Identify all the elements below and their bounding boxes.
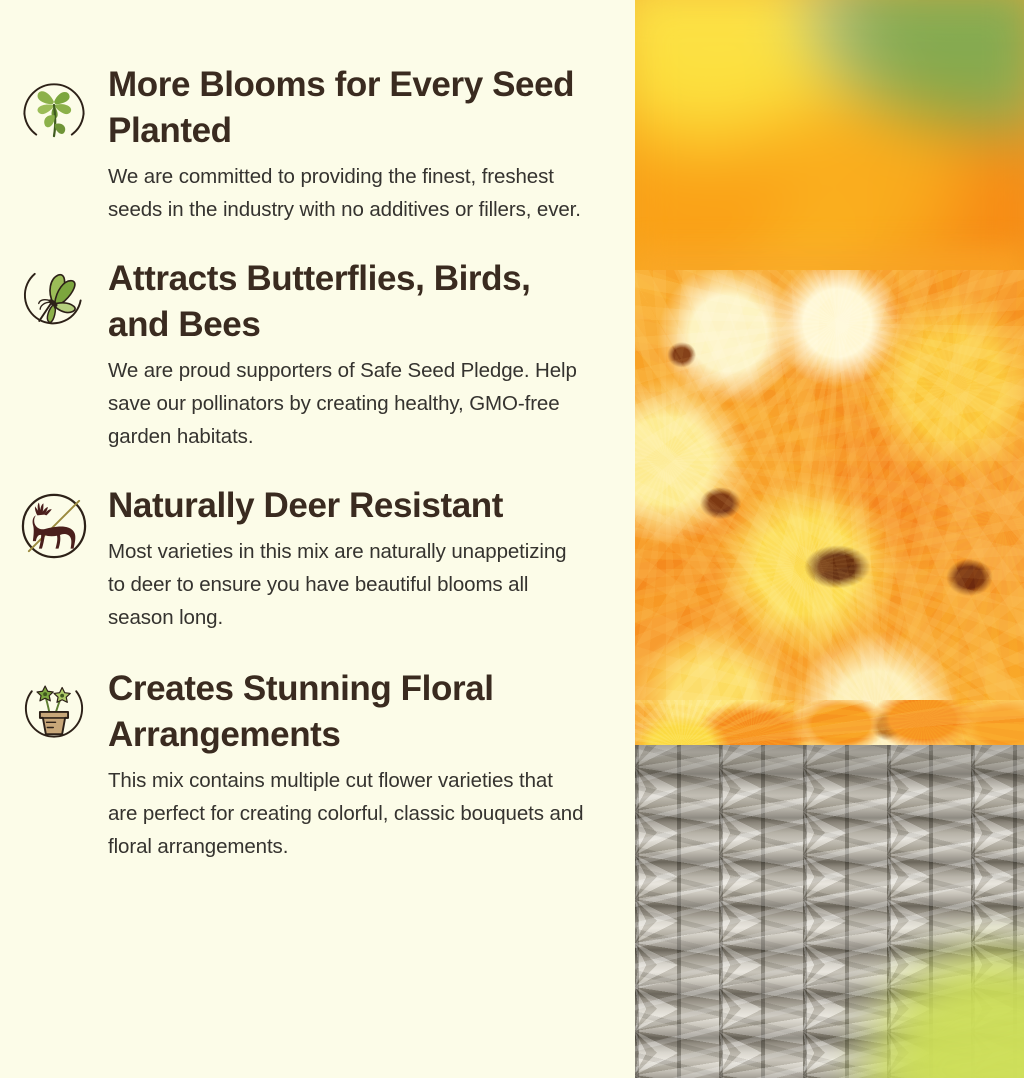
benefit-item-more-blooms: More Blooms for Every Seed Planted We ar…	[0, 62, 605, 226]
product-benefits-page: More Blooms for Every Seed Planted We ar…	[0, 0, 1024, 1078]
benefit-item-deer-resistant: Naturally Deer Resistant Most varieties …	[0, 483, 605, 634]
benefit-title: More Blooms for Every Seed Planted	[108, 62, 585, 154]
benefit-text-block: Attracts Butterflies, Birds, and Bees We…	[108, 256, 605, 453]
benefit-text-block: Creates Stunning Floral Arrangements Thi…	[108, 666, 605, 863]
flower-basket-photo	[635, 0, 1024, 1078]
benefit-icon-slot	[0, 62, 108, 142]
butterfly-icon	[17, 262, 91, 336]
photo-inner	[635, 0, 1024, 1078]
benefit-text-block: Naturally Deer Resistant Most varieties …	[108, 483, 605, 634]
benefit-description: We are committed to providing the finest…	[108, 160, 585, 226]
benefit-icon-slot	[0, 256, 108, 336]
benefit-title: Attracts Butterflies, Birds, and Bees	[108, 256, 585, 348]
blurred-grass-background	[764, 788, 1024, 1078]
benefit-text-block: More Blooms for Every Seed Planted We ar…	[108, 62, 605, 226]
benefit-item-floral-arrangements: Creates Stunning Floral Arrangements Thi…	[0, 666, 605, 863]
benefits-panel: More Blooms for Every Seed Planted We ar…	[0, 0, 635, 1078]
benefit-title: Creates Stunning Floral Arrangements	[108, 666, 585, 758]
benefit-description: This mix contains multiple cut flower va…	[108, 764, 585, 863]
benefit-icon-slot	[0, 483, 108, 563]
benefit-item-attracts-pollinators: Attracts Butterflies, Birds, and Bees We…	[0, 256, 605, 453]
benefit-title: Naturally Deer Resistant	[108, 483, 585, 529]
benefit-description: Most varieties in this mix are naturally…	[108, 535, 585, 634]
benefit-icon-slot	[0, 666, 108, 746]
sprout-flower-icon	[17, 68, 91, 142]
potted-plant-icon	[17, 672, 91, 746]
benefit-description: We are proud supporters of Safe Seed Ple…	[108, 354, 585, 453]
no-deer-icon	[17, 489, 91, 563]
